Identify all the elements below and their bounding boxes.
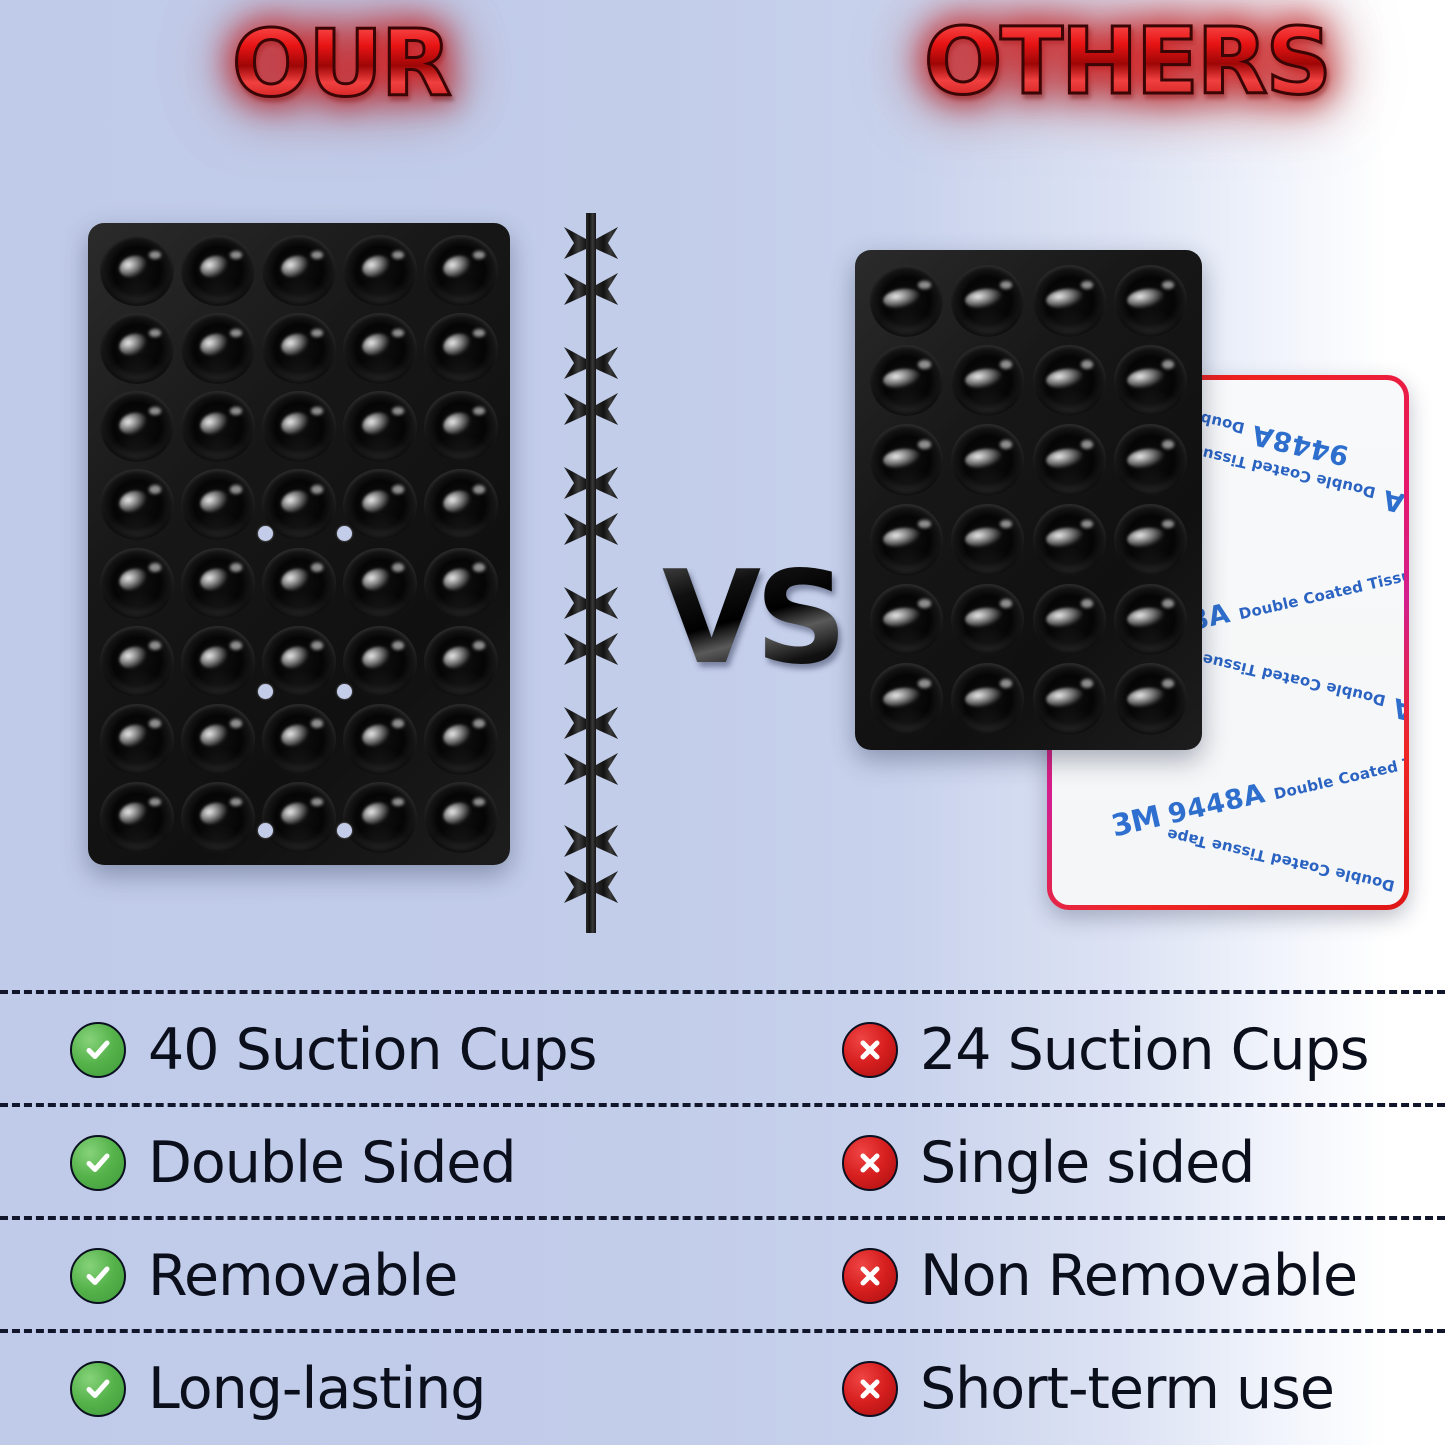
tape-desc: Double Coated Tissue Tape <box>1165 825 1396 895</box>
tape-code: 9448A <box>1399 877 1409 910</box>
suction-cup <box>870 504 943 575</box>
headings-band: OUR OTHERS <box>0 0 1445 145</box>
suction-cup <box>262 704 336 775</box>
suction-cup <box>1033 584 1106 655</box>
check-icon <box>70 1135 126 1191</box>
table-row: Long-lasting Short-term use <box>0 1339 1445 1439</box>
tape-desc: Double Coated Tissue Tape <box>1272 733 1409 803</box>
suction-cup <box>100 469 174 540</box>
table-row: Double Sided Single sided <box>0 1113 1445 1213</box>
table-row: Removable Non Removable <box>0 1226 1445 1326</box>
row-divider <box>0 990 1445 994</box>
cross-icon <box>842 1135 898 1191</box>
vent-hole <box>258 526 273 541</box>
suction-cup <box>343 235 417 306</box>
our-suction-pad <box>88 223 510 865</box>
our-feature-cell: Removable <box>0 1226 722 1326</box>
suction-cup <box>100 313 174 384</box>
suction-cup <box>424 626 498 697</box>
suction-cup <box>343 626 417 697</box>
suction-cup <box>100 704 174 775</box>
suction-cup <box>343 548 417 619</box>
check-icon <box>70 1022 126 1078</box>
suction-cup <box>1033 265 1106 336</box>
row-divider <box>0 1329 1445 1333</box>
suction-cup <box>181 782 255 853</box>
our-feature-label: 40 Suction Cups <box>148 1022 596 1079</box>
other-feature-cell: 24 Suction Cups <box>722 1000 1444 1100</box>
suction-cup <box>1114 663 1187 734</box>
vent-hole <box>337 526 352 541</box>
suction-cup <box>424 391 498 462</box>
other-feature-cell: Single sided <box>722 1113 1444 1213</box>
suction-cup <box>262 469 336 540</box>
others-suction-pad <box>855 250 1202 750</box>
suction-cup <box>1033 663 1106 734</box>
vent-hole <box>258 823 273 838</box>
suction-cup <box>262 313 336 384</box>
suction-cup <box>262 548 336 619</box>
suction-cup <box>951 504 1024 575</box>
suction-cup <box>424 704 498 775</box>
barbed-divider-icon <box>560 213 622 933</box>
suction-cup <box>1114 504 1187 575</box>
suction-cup <box>424 782 498 853</box>
table-row: 40 Suction Cups 24 Suction Cups <box>0 1000 1445 1100</box>
check-icon <box>70 1248 126 1304</box>
other-feature-label: Single sided <box>920 1135 1254 1192</box>
versus-label: VS <box>662 555 841 683</box>
other-feature-label: Non Removable <box>920 1248 1357 1305</box>
suction-cup <box>424 469 498 540</box>
tape-brand: 3M <box>1108 799 1163 844</box>
suction-cup <box>870 584 943 655</box>
our-feature-label: Double Sided <box>148 1135 516 1192</box>
suction-cup <box>181 548 255 619</box>
suction-cup <box>1033 504 1106 575</box>
suction-cup <box>100 626 174 697</box>
cross-icon <box>842 1361 898 1417</box>
suction-cup <box>100 548 174 619</box>
other-feature-label: 24 Suction Cups <box>920 1022 1368 1079</box>
suction-cup <box>181 626 255 697</box>
suction-cup <box>870 265 943 336</box>
suction-cup <box>1114 584 1187 655</box>
other-feature-cell: Non Removable <box>722 1226 1444 1326</box>
suction-cup <box>262 626 336 697</box>
suction-cup <box>424 235 498 306</box>
vent-hole <box>258 684 273 699</box>
suction-cup <box>1033 345 1106 416</box>
suction-cup <box>181 313 255 384</box>
tape-desc: Double Coated Tissue Tape <box>1237 553 1409 623</box>
suction-cup <box>343 469 417 540</box>
our-feature-cell: Long-lasting <box>0 1339 722 1439</box>
tape-code: 9448A <box>1380 483 1409 535</box>
row-divider <box>0 1216 1445 1220</box>
suction-cup <box>343 782 417 853</box>
suction-cup <box>100 391 174 462</box>
tape-print-row: 9448A Double Coated Tissue Tape <box>1163 822 1409 910</box>
suction-cup <box>424 548 498 619</box>
our-feature-label: Long-lasting <box>148 1361 485 1418</box>
suction-cup <box>951 584 1024 655</box>
other-feature-cell: Short-term use <box>722 1339 1444 1439</box>
vent-hole <box>337 684 352 699</box>
suction-cup <box>870 663 943 734</box>
other-feature-label: Short-term use <box>920 1361 1334 1418</box>
suction-cup <box>100 235 174 306</box>
suction-cup <box>1033 424 1106 495</box>
suction-cup <box>951 424 1024 495</box>
suction-cup <box>951 345 1024 416</box>
row-divider <box>0 1103 1445 1107</box>
tape-code: 9448A <box>1390 691 1409 743</box>
suction-cup <box>343 391 417 462</box>
suction-cup <box>424 313 498 384</box>
suction-cup <box>181 391 255 462</box>
suction-cup <box>181 235 255 306</box>
our-heading: OUR <box>232 18 450 110</box>
suction-cup <box>870 424 943 495</box>
vent-hole <box>337 823 352 838</box>
suction-cup <box>100 782 174 853</box>
suction-cup <box>951 663 1024 734</box>
suction-cup <box>1114 424 1187 495</box>
our-feature-cell: Double Sided <box>0 1113 722 1213</box>
others-heading: OTHERS <box>924 16 1330 108</box>
suction-cup <box>181 704 255 775</box>
comparison-infographic: OUR OTHERS <box>0 0 1445 1445</box>
our-feature-label: Removable <box>148 1248 457 1305</box>
suction-cup <box>262 782 336 853</box>
our-feature-cell: 40 Suction Cups <box>0 1000 722 1100</box>
suction-cup <box>951 265 1024 336</box>
suction-cup <box>181 469 255 540</box>
product-photo-area: VS 9448A Double Coated Tissue Tape 3M 94… <box>0 145 1445 990</box>
suction-cup <box>262 391 336 462</box>
suction-cup <box>262 235 336 306</box>
tape-code: 9448A <box>1165 778 1268 830</box>
check-icon <box>70 1361 126 1417</box>
comparison-table: 40 Suction Cups 24 Suction Cups Double S… <box>0 990 1445 1445</box>
suction-cup <box>1114 265 1187 336</box>
cross-icon <box>842 1022 898 1078</box>
suction-cup <box>343 313 417 384</box>
suction-cup <box>343 704 417 775</box>
suction-cup <box>1114 345 1187 416</box>
cross-icon <box>842 1248 898 1304</box>
suction-cup <box>870 345 943 416</box>
